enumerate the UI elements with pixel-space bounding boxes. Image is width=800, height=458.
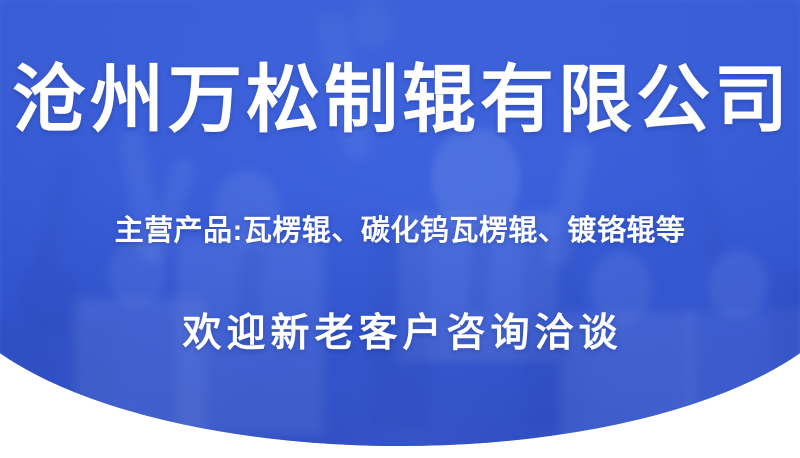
company-name-title: 沧州万松制辊有限公司 xyxy=(0,60,800,140)
welcome-tagline: 欢迎新老客户咨询洽谈 xyxy=(0,310,800,358)
banner-inner: 沧州万松制辊有限公司 主营产品:瓦楞辊、碳化钨瓦楞辊、镀铬辊等 欢迎新老客户咨询… xyxy=(0,0,800,446)
banner-text-layer: 沧州万松制辊有限公司 主营产品:瓦楞辊、碳化钨瓦楞辊、镀铬辊等 欢迎新老客户咨询… xyxy=(0,0,800,446)
company-banner: 沧州万松制辊有限公司 主营产品:瓦楞辊、碳化钨瓦楞辊、镀铬辊等 欢迎新老客户咨询… xyxy=(0,0,800,458)
main-products-line: 主营产品:瓦楞辊、碳化钨瓦楞辊、镀铬辊等 xyxy=(0,213,800,249)
banner-blue-panel: 沧州万松制辊有限公司 主营产品:瓦楞辊、碳化钨瓦楞辊、镀铬辊等 欢迎新老客户咨询… xyxy=(0,0,800,446)
